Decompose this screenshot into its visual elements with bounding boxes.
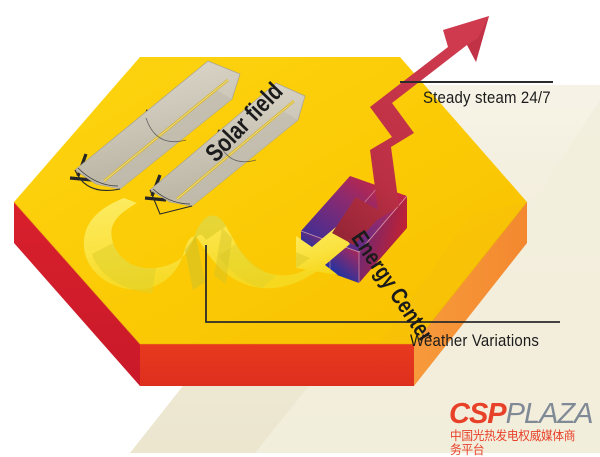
- diagram-svg: [0, 0, 600, 453]
- logo-wordmark: CSPPLAZA: [449, 399, 593, 429]
- logo-secondary-text: PLAZA: [506, 398, 593, 430]
- diagram-canvas: [0, 0, 600, 453]
- cspplaza-logo: CSPPLAZA 中国光热发电权威媒体商务平台: [449, 399, 591, 447]
- label-steady-steam: Steady steam 24/7: [423, 88, 551, 108]
- logo-primary-text: CSP: [449, 398, 506, 430]
